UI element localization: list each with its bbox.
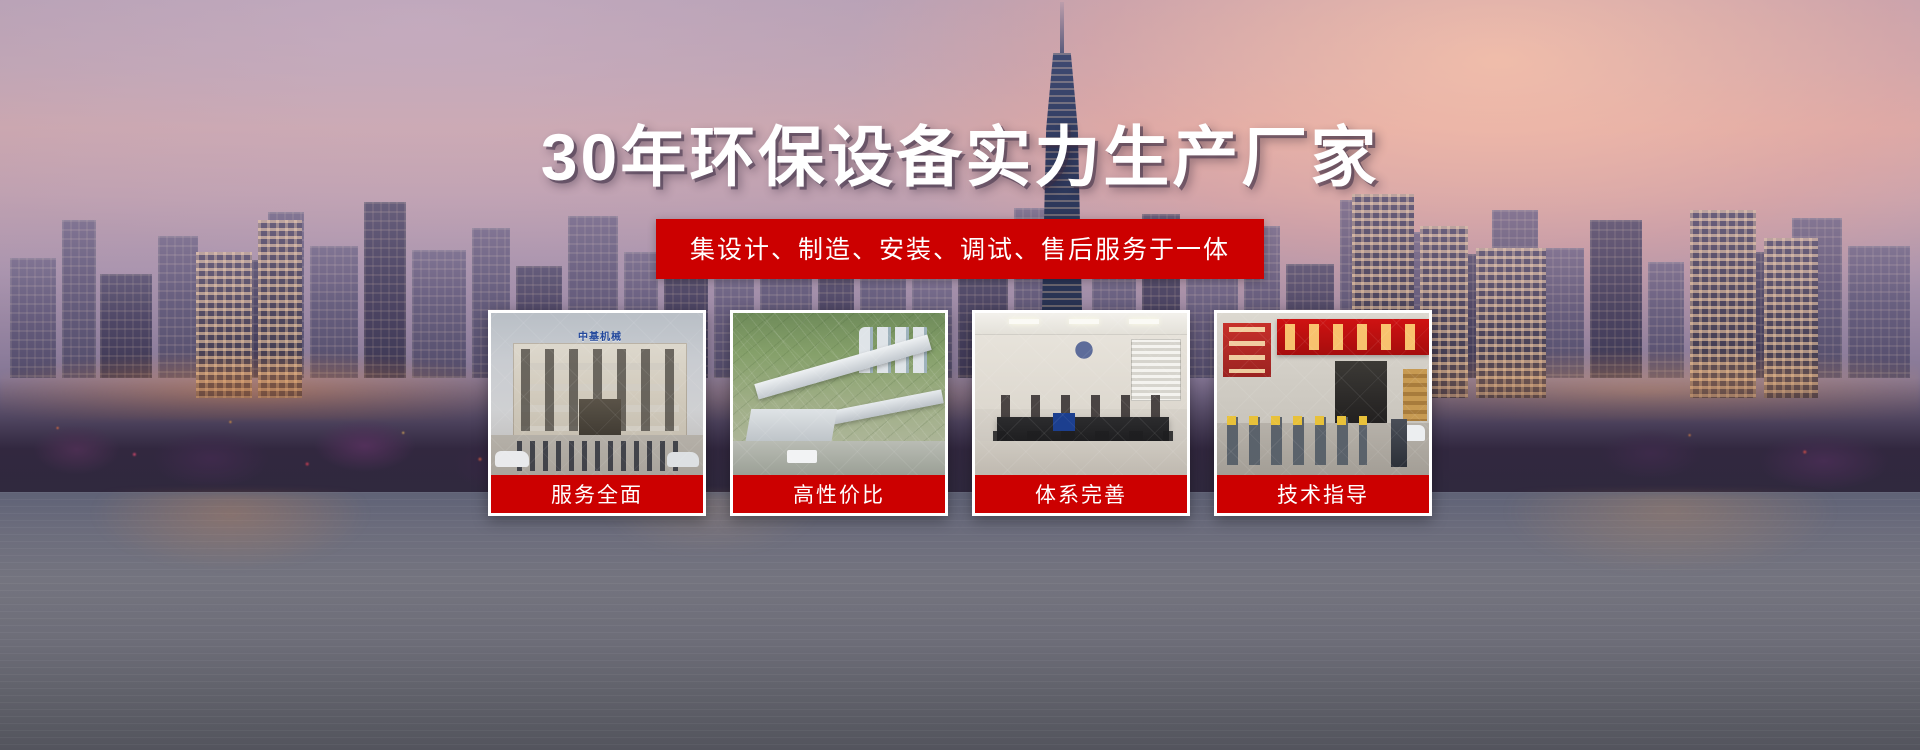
feature-card-list: 中基机械 服务全面 — [488, 310, 1432, 516]
building-sign-text: 中基机械 — [557, 329, 643, 342]
feature-card-label: 高性价比 — [733, 475, 945, 513]
hero-banner: 30年环保设备实力生产厂家 集设计、制造、安装、调试、售后服务于一体 中基机械 … — [0, 0, 1920, 750]
workshop-workers-photo — [1217, 313, 1429, 475]
feature-card[interactable]: 高性价比 — [730, 310, 948, 516]
aerial-production-plant-photo — [733, 313, 945, 475]
feature-card-label: 技术指导 — [1217, 475, 1429, 513]
banner-subtitle-bar: 集设计、制造、安装、调试、售后服务于一体 — [656, 219, 1264, 279]
feature-card-label: 体系完善 — [975, 475, 1187, 513]
banner-headline: 30年环保设备实力生产厂家 — [541, 104, 1379, 200]
feature-card[interactable]: 体系完善 — [972, 310, 1190, 516]
banner-content: 30年环保设备实力生产厂家 集设计、制造、安装、调试、售后服务于一体 中基机械 … — [0, 0, 1920, 750]
company-office-building-photo: 中基机械 — [491, 313, 703, 475]
feature-card-label: 服务全面 — [491, 475, 703, 513]
feature-card[interactable]: 技术指导 — [1214, 310, 1432, 516]
feature-card[interactable]: 中基机械 服务全面 — [488, 310, 706, 516]
office-interior-staff-photo — [975, 313, 1187, 475]
